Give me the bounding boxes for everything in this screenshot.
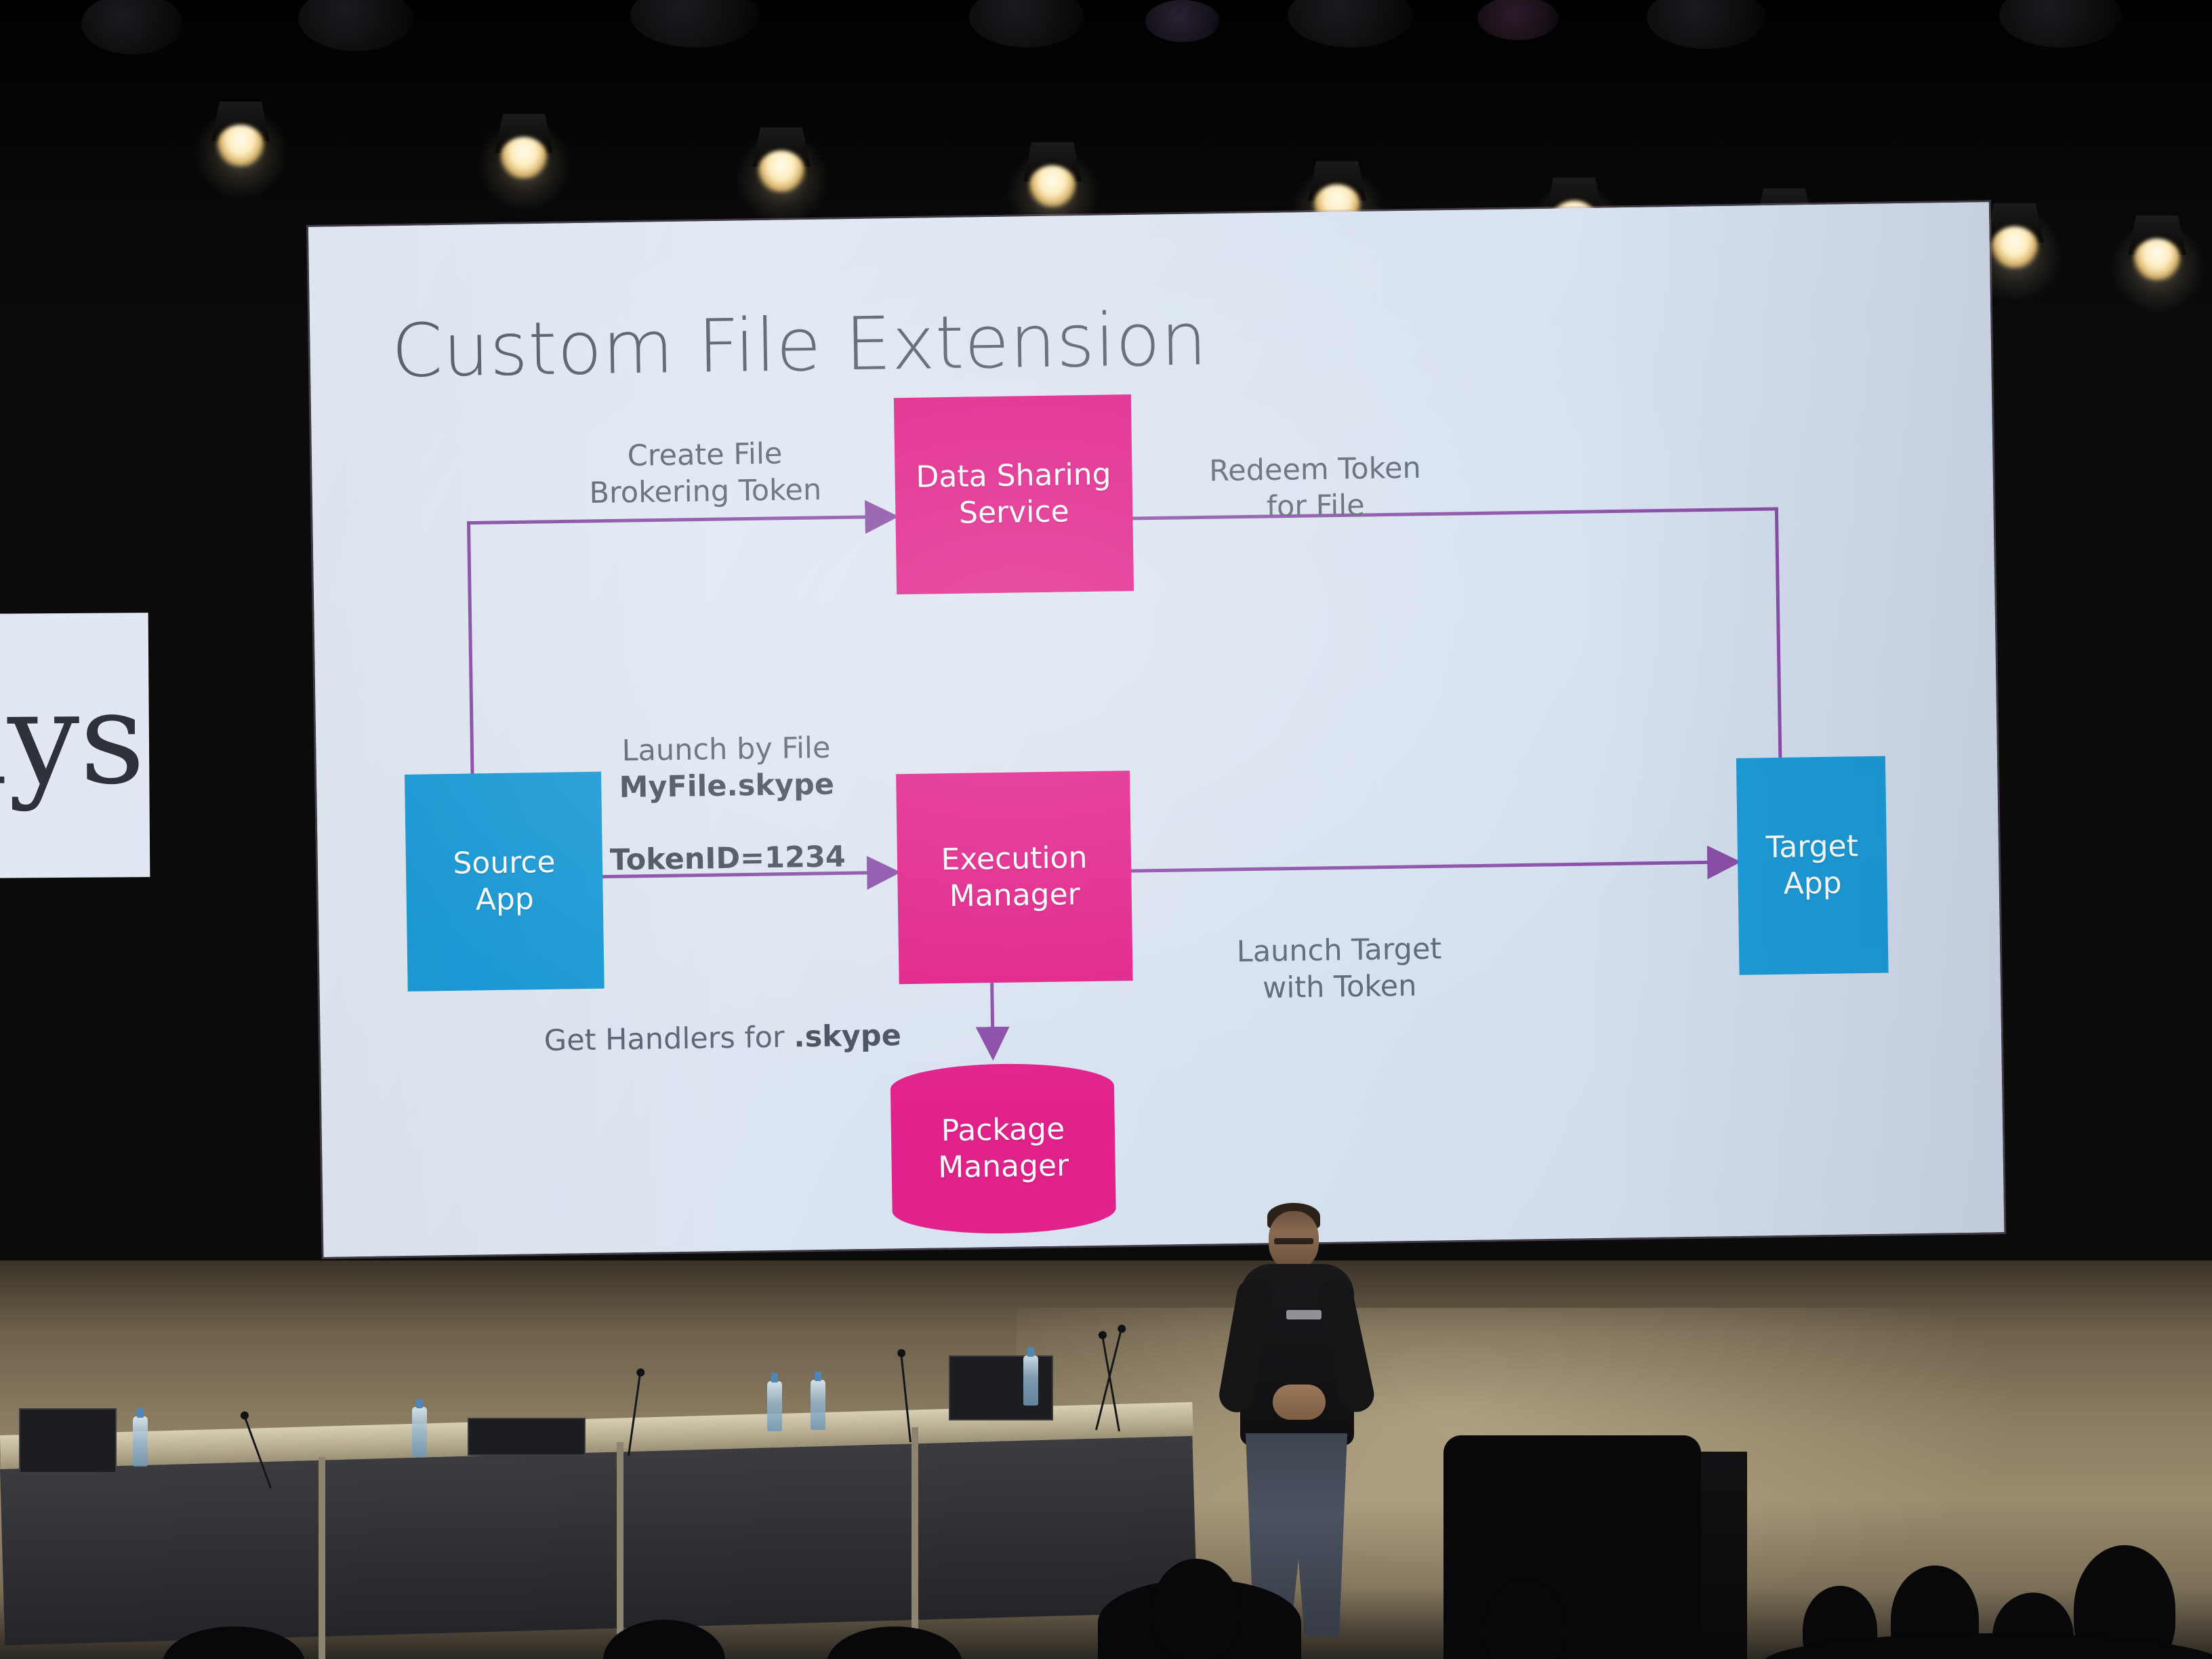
label-bold-extension: .skype — [794, 1019, 901, 1054]
label-create-file-brokering-token: Create File Brokering Token — [541, 398, 869, 549]
label-line-2: MyFile.skype — [557, 766, 897, 807]
node-label: Execution Manager — [941, 840, 1088, 915]
label-line-1: Create File — [627, 436, 782, 472]
audience-silhouette — [1152, 1559, 1240, 1659]
laptop — [468, 1418, 586, 1456]
label-line-1: Launch Target — [1236, 932, 1441, 968]
label-line-1: Launch by File — [621, 731, 830, 768]
label-launch-by-file: Launch by File MyFile.skype TokenID=1234 — [556, 693, 898, 916]
secondary-screen-text: ays — [0, 675, 146, 804]
projection-screen: Custom File Extension Data Sharing Servi… — [308, 202, 2004, 1257]
label-line-1: Get Handlers for — [544, 1021, 794, 1058]
water-bottle — [767, 1381, 782, 1431]
photo-scene: Custom File Extension Data Sharing Servi… — [0, 0, 2212, 1659]
water-bottle — [1023, 1355, 1038, 1406]
panel-desk-divider — [912, 1427, 918, 1631]
label-launch-target-with-token: Launch Target with Token — [1179, 894, 1500, 1044]
node-data-sharing-service: Data Sharing Service — [894, 394, 1134, 594]
water-bottle — [133, 1416, 148, 1467]
node-label: Target App — [1765, 829, 1859, 903]
panel-desk-divider — [319, 1457, 325, 1659]
label-line-1: Redeem Token — [1209, 451, 1421, 488]
node-execution-manager: Execution Manager — [896, 771, 1133, 984]
label-redeem-token-for-file: Redeem Token for File — [1155, 413, 1475, 564]
node-target-app: Target App — [1736, 756, 1889, 975]
nameplate — [19, 1408, 117, 1473]
audience-silhouette — [1443, 1435, 1701, 1659]
page-title: Custom File Extension — [391, 304, 1208, 389]
presenter-glasses — [1274, 1238, 1313, 1244]
node-label: Data Sharing Service — [916, 457, 1112, 533]
presenter-shirt-logo — [1286, 1310, 1322, 1319]
presenter — [1240, 1203, 1416, 1637]
water-bottle — [412, 1407, 427, 1457]
panel-desk-divider — [617, 1442, 623, 1645]
label-line-3: TokenID=1234 — [558, 838, 898, 880]
panel-desk-front — [0, 1436, 1197, 1645]
ceiling-fixture-icon — [1145, 0, 1220, 42]
presenter-hands — [1273, 1385, 1326, 1420]
node-package-manager: Package Manager — [890, 1063, 1116, 1235]
label-line-2: for File — [1156, 486, 1475, 527]
water-bottle — [811, 1380, 825, 1430]
node-label: Package Manager — [937, 1111, 1069, 1186]
label-get-handlers: Get Handlers for .skype — [544, 1017, 978, 1059]
node-label: Source App — [453, 844, 556, 919]
secondary-projection-screen: ays — [0, 613, 150, 878]
label-line-2: with Token — [1180, 967, 1499, 1008]
label-line-2: Brokering Token — [542, 471, 868, 512]
